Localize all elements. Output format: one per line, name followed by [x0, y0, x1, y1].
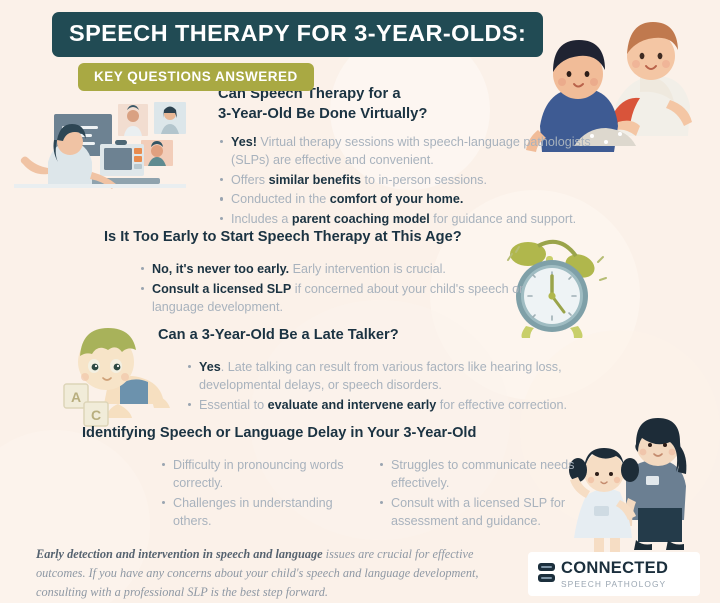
list-item: Conducted in the comfort of your home. [218, 190, 598, 208]
logo-bar-top [538, 563, 555, 571]
list-item: No, it's never too early. Early interven… [139, 260, 534, 278]
column-right: Struggles to communicate needs effective… [378, 456, 578, 532]
column-left: Difficulty in pronouncing words correctl… [160, 456, 360, 532]
bullet-list: Yes! Virtual therapy sessions with speec… [218, 133, 598, 228]
bullet-text: for guidance and support. [430, 212, 576, 226]
logo-line-2: SPEECH PATHOLOGY [561, 580, 668, 588]
footer-note: Early detection and intervention in spee… [36, 545, 498, 601]
list-item: Yes. Late talking can result from variou… [186, 358, 608, 394]
svg-text:A: A [71, 389, 81, 405]
list-item: Yes! Virtual therapy sessions with speec… [218, 133, 598, 169]
section-heading: Is It Too Early to Start Speech Therapy … [104, 228, 534, 247]
bullet-bold: evaluate and intervene early [268, 398, 437, 412]
bullet-bold: Consult a licensed SLP [152, 282, 291, 296]
page-title: SPEECH THERAPY FOR 3-YEAR-OLDS: [52, 12, 543, 57]
bullet-text: to in-person sessions. [361, 173, 487, 187]
section-late-talker: Can a 3-Year-Old Be a Late Talker? Yes. … [158, 326, 608, 416]
logo-line-1: CONNECTED [561, 560, 668, 577]
bullet-pre: Includes a [231, 212, 292, 226]
list-item: Offers similar benefits to in-person ses… [218, 171, 598, 189]
bullet-text: Virtual therapy sessions with speech-lan… [231, 135, 591, 167]
bullet-bold: Yes [199, 360, 221, 374]
connected-logo-icon [538, 563, 555, 585]
bullet-pre: Offers [231, 173, 269, 187]
bullet-list: Difficulty in pronouncing words correctl… [160, 456, 360, 530]
bullet-bold: parent coaching model [292, 212, 430, 226]
list-item: Struggles to communicate needs effective… [378, 456, 578, 492]
bullet-list: Struggles to communicate needs effective… [378, 456, 578, 530]
bullet-list: Yes. Late talking can result from variou… [186, 358, 608, 414]
bullet-bold: No, it's never too early. [152, 262, 289, 276]
header: SPEECH THERAPY FOR 3-YEAR-OLDS: KEY QUES… [52, 12, 720, 91]
teletherapy-video-call-illustration [14, 96, 186, 202]
logo-bar-bottom [538, 574, 555, 582]
list-item: Consult with a licensed SLP for assessme… [378, 494, 578, 530]
heading-line-2: 3-Year-Old Be Done Virtually? [218, 106, 427, 122]
two-column-lists: Difficulty in pronouncing words correctl… [160, 456, 612, 532]
list-item: Difficulty in pronouncing words correctl… [160, 456, 360, 492]
section-virtual-therapy: Can Speech Therapy for a 3-Year-Old Be D… [218, 85, 598, 230]
svg-text:C: C [91, 407, 101, 423]
list-item: Includes a parent coaching model for gui… [218, 210, 598, 228]
section-heading: Identifying Speech or Language Delay in … [82, 424, 612, 443]
section-heading: Can a 3-Year-Old Be a Late Talker? [158, 326, 608, 345]
bullet-pre: Conducted in the [231, 192, 330, 206]
brand-logo: CONNECTED SPEECH PATHOLOGY [528, 552, 700, 596]
list-item: Essential to evaluate and intervene earl… [186, 396, 608, 414]
section-too-early: Is It Too Early to Start Speech Therapy … [104, 228, 534, 318]
bullet-list: No, it's never too early. Early interven… [139, 260, 534, 316]
infographic-page: A C SPEECH T [0, 0, 720, 603]
bullet-bold: similar benefits [269, 173, 361, 187]
bullet-text: Early intervention is crucial. [289, 262, 446, 276]
footer-bold-lead: Early detection and intervention in spee… [36, 547, 323, 561]
list-item: Consult a licensed SLP if concerned abou… [139, 280, 534, 316]
list-item: Challenges in understanding others. [160, 494, 360, 530]
bullet-pre: Essential to [199, 398, 268, 412]
page-subtitle: KEY QUESTIONS ANSWERED [78, 63, 314, 92]
bullet-text: . Late talking can result from various f… [199, 360, 562, 392]
bullet-text: for effective correction. [436, 398, 567, 412]
bullet-bold: comfort of your home. [330, 192, 464, 206]
bullet-bold: Yes! [231, 135, 257, 149]
section-identifying-delay: Identifying Speech or Language Delay in … [82, 424, 612, 532]
logo-wordmark: CONNECTED SPEECH PATHOLOGY [561, 560, 668, 588]
